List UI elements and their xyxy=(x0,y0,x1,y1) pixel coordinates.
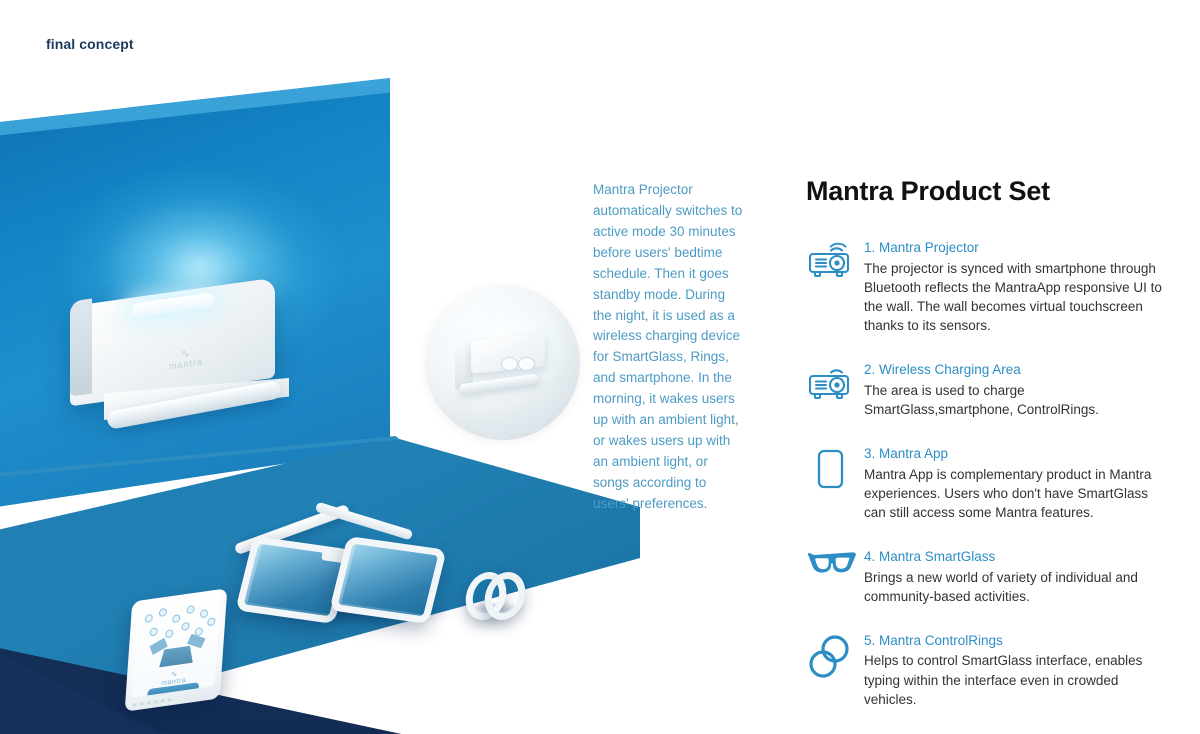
floating-icon xyxy=(200,609,208,618)
closeup-glasses xyxy=(501,355,543,371)
list-item-title: 4. Mantra SmartGlass xyxy=(864,548,1166,566)
platform-brand-logo: ∿ mantra xyxy=(545,593,596,635)
page-title: Mantra Product Set xyxy=(806,176,1166,207)
floating-icon xyxy=(207,617,215,626)
list-item: 5. Mantra ControlRings Helps to control … xyxy=(806,632,1166,709)
projector-side-face xyxy=(70,298,92,396)
ar-city-overlay xyxy=(338,544,438,616)
rings-icon xyxy=(806,632,864,680)
list-item-body: 2. Wireless Charging Area The area is us… xyxy=(864,361,1166,419)
glasses-icon xyxy=(806,548,864,596)
projector-detail-closeup xyxy=(425,285,580,440)
list-item-body: 1. Mantra Projector The projector is syn… xyxy=(864,239,1166,335)
floating-icon xyxy=(145,614,153,623)
floating-icon xyxy=(159,608,167,617)
list-item-desc: The area is used to charge SmartGlass,sm… xyxy=(864,381,1166,419)
floating-icon xyxy=(165,629,173,638)
page-label: final concept xyxy=(46,36,134,52)
list-item: 2. Wireless Charging Area The area is us… xyxy=(806,361,1166,419)
port-mark xyxy=(147,700,151,704)
port-mark xyxy=(161,699,165,703)
list-item-desc: Helps to control SmartGlass interface, e… xyxy=(864,651,1166,708)
product-list: 1. Mantra Projector The projector is syn… xyxy=(806,239,1166,709)
smartphone-icon xyxy=(806,445,864,493)
projector-description-note: Mantra Projector automatically switches … xyxy=(593,180,743,515)
floating-icon xyxy=(186,605,194,614)
list-item-title: 2. Wireless Charging Area xyxy=(864,361,1166,379)
port-mark xyxy=(154,700,158,704)
list-item: 1. Mantra Projector The projector is syn… xyxy=(806,239,1166,335)
list-item: 4. Mantra SmartGlass Brings a new world … xyxy=(806,548,1166,606)
list-item: 3. Mantra App Mantra App is complementar… xyxy=(806,445,1166,522)
phone-screen: ∿ mantra xyxy=(131,594,221,697)
projector-icon xyxy=(806,239,864,287)
list-item-title: 3. Mantra App xyxy=(864,445,1166,463)
list-item-title: 5. Mantra ControlRings xyxy=(864,632,1166,650)
floating-icon xyxy=(172,614,180,623)
mantra-smartglass xyxy=(230,518,480,638)
port-mark xyxy=(168,698,172,702)
glasses-lens-right xyxy=(329,536,447,624)
list-item-desc: Brings a new world of variety of individ… xyxy=(864,568,1166,606)
list-item-body: 5. Mantra ControlRings Helps to control … xyxy=(864,632,1166,709)
phone-floating-icons xyxy=(135,598,221,650)
floating-icon xyxy=(149,627,157,636)
list-item-body: 3. Mantra App Mantra App is complementar… xyxy=(864,445,1166,522)
list-item-title: 1. Mantra Projector xyxy=(864,239,1166,257)
list-item-desc: The projector is synced with smartphone … xyxy=(864,259,1166,336)
port-mark xyxy=(140,701,144,705)
final-concept-slide: final concept ∿ mantra xyxy=(0,0,1200,734)
list-item-body: 4. Mantra SmartGlass Brings a new world … xyxy=(864,548,1166,606)
port-mark xyxy=(133,702,137,706)
mantra-smartphone: ∿ mantra xyxy=(125,588,228,712)
product-render-scene: ∿ mantra ∿ mantra xyxy=(0,78,640,734)
closeup-lens-right xyxy=(518,357,535,371)
mantra-controlrings xyxy=(466,572,522,614)
mantra-projector-device: ∿ mantra xyxy=(70,274,300,434)
list-item-desc: Mantra App is complementary product in M… xyxy=(864,465,1166,522)
closeup-lens-left xyxy=(501,357,518,371)
projector-icon xyxy=(806,361,864,409)
product-set-panel: Mantra Product Set xyxy=(806,176,1166,734)
floating-icon xyxy=(181,622,189,631)
